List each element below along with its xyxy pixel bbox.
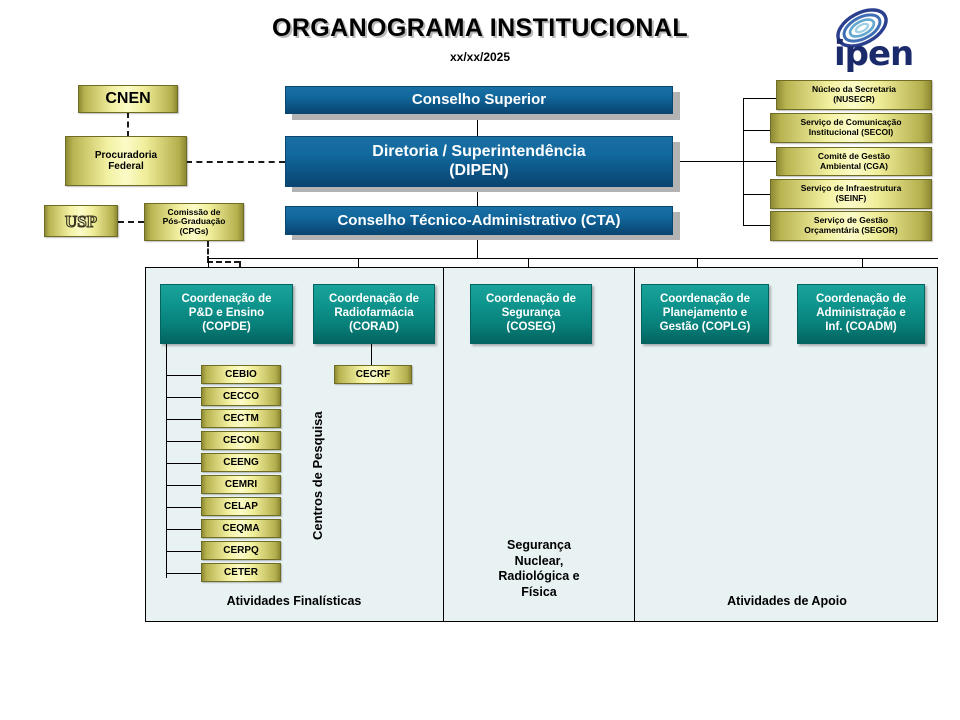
ipen-logo-text: ipen [834, 34, 913, 74]
box-cpgs-label: Comissão de Pós-Graduação (CPGs) [163, 208, 226, 237]
box-cnen[interactable]: CNEN [78, 85, 178, 113]
panel-label-apoio: Atividades de Apoio [638, 594, 936, 610]
box-coseg[interactable]: Coordenação de Segurança (COSEG) [470, 284, 592, 344]
box-celap[interactable]: CELAP [201, 497, 281, 516]
connector-cnen-procuradoria [127, 112, 129, 137]
connector-center-6 [166, 507, 202, 508]
box-ceqma[interactable]: CEQMA [201, 519, 281, 538]
box-procuradoria-federal[interactable]: Procuradoria Federal [65, 136, 187, 186]
connector-procuradoria-dipen [186, 161, 285, 163]
box-cecco-label: CECCO [223, 391, 259, 402]
connector-dipen-right-trunk [678, 161, 743, 162]
connector-center-5 [166, 485, 202, 486]
box-dipen[interactable]: Diretoria / Superintendência (DIPEN) [285, 136, 673, 187]
box-nusecr[interactable]: Núcleo da Secretaria (NUSECR) [776, 80, 932, 110]
box-seinf[interactable]: Serviço de Infraestrutura (SEINF) [770, 179, 932, 209]
box-ceqma-label: CEQMA [222, 523, 259, 534]
box-cemri-label: CEMRI [225, 479, 257, 490]
box-procuradoria-federal-label: Procuradoria Federal [95, 150, 157, 172]
box-celap-label: CELAP [224, 501, 258, 512]
box-secoi-label: Serviço de Comunicação Institucional (SE… [800, 118, 901, 137]
svg-text:USP: USP [65, 212, 97, 231]
box-cerpq[interactable]: CERPQ [201, 541, 281, 560]
connector-center-8 [166, 551, 202, 552]
box-dipen-label: Diretoria / Superintendência (DIPEN) [372, 143, 585, 180]
connector-copde-centers-trunk [166, 344, 167, 578]
box-cerpq-label: CERPQ [223, 545, 259, 556]
box-ceeng[interactable]: CEENG [201, 453, 281, 472]
connector-trunk-cga [743, 161, 776, 162]
box-cemri[interactable]: CEMRI [201, 475, 281, 494]
box-coplg-label: Coordenação de Planejamento e Gestão (CO… [660, 293, 751, 334]
box-cga[interactable]: Comitê de Gestão Ambiental (CGA) [776, 147, 932, 176]
box-conselho-superior[interactable]: Conselho Superior [285, 86, 673, 114]
box-cnen-label: CNEN [105, 90, 150, 108]
box-cecrf[interactable]: CECRF [334, 365, 412, 384]
box-ceter-label: CETER [224, 567, 258, 578]
panel-divider-2 [634, 268, 635, 621]
box-seinf-label: Serviço de Infraestrutura (SEINF) [801, 184, 902, 203]
organogram-canvas: ORGANOGRAMA INSTITUCIONAL xx/xx/2025 ipe… [0, 0, 960, 720]
box-cta-label: Conselho Técnico-Administrativo (CTA) [337, 212, 620, 229]
box-conselho-superior-label: Conselho Superior [412, 91, 546, 108]
connector-center-3 [166, 441, 202, 442]
connector-center-2 [166, 419, 202, 420]
box-cebio[interactable]: CEBIO [201, 365, 281, 384]
box-coseg-label: Coordenação de Segurança (COSEG) [486, 293, 576, 334]
box-coplg[interactable]: Coordenação de Planejamento e Gestão (CO… [641, 284, 769, 344]
panel-label-finalisticas: Atividades Finalísticas [150, 594, 438, 610]
box-cecon-label: CECON [223, 435, 259, 446]
box-copde-label: Coordenação de P&D e Ensino (COPDE) [181, 293, 271, 334]
connector-center-0 [166, 375, 202, 376]
connector-distribution-bus [208, 258, 938, 259]
box-corad-label: Coordenação de Radiofarmácia (CORAD) [329, 293, 419, 334]
box-cta[interactable]: Conselho Técnico-Administrativo (CTA) [285, 206, 673, 235]
connector-center-1 [166, 397, 202, 398]
connector-corad-cecrf [371, 344, 372, 365]
usp-logo-icon: USP [55, 211, 107, 231]
box-usp[interactable]: USP [44, 205, 118, 237]
connector-cpgs-elbow [207, 261, 240, 263]
box-cecrf-label: CECRF [356, 369, 390, 380]
box-cga-label: Comitê de Gestão Ambiental (CGA) [818, 152, 890, 171]
box-cecon[interactable]: CECON [201, 431, 281, 450]
connector-usp-cpgs [118, 221, 144, 223]
box-coadm-label: Coordenação de Administração e Inf. (COA… [816, 293, 906, 334]
box-coadm[interactable]: Coordenação de Administração e Inf. (COA… [797, 284, 925, 344]
box-nusecr-label: Núcleo da Secretaria (NUSECR) [812, 85, 896, 104]
box-cebio-label: CEBIO [225, 369, 257, 380]
connector-center-4 [166, 463, 202, 464]
ipen-logo: ipen [800, 6, 950, 72]
box-cectm-label: CECTM [223, 413, 259, 424]
box-cectm[interactable]: CECTM [201, 409, 281, 428]
box-corad[interactable]: Coordenação de Radiofarmácia (CORAD) [313, 284, 435, 344]
box-ceeng-label: CEENG [223, 457, 259, 468]
panel-divider-1 [443, 268, 444, 621]
box-secoi[interactable]: Serviço de Comunicação Institucional (SE… [770, 113, 932, 143]
box-copde[interactable]: Coordenação de P&D e Ensino (COPDE) [160, 284, 293, 344]
box-ceter[interactable]: CETER [201, 563, 281, 582]
connector-center-9 [166, 573, 202, 574]
box-segor[interactable]: Serviço de Gestão Orçamentária (SEGOR) [770, 211, 932, 241]
box-segor-label: Serviço de Gestão Orçamentária (SEGOR) [804, 216, 898, 235]
panel-label-seguranca: Segurança Nuclear, Radiológica e Física [446, 538, 632, 601]
connector-center-7 [166, 529, 202, 530]
box-cecco[interactable]: CECCO [201, 387, 281, 406]
box-cpgs[interactable]: Comissão de Pós-Graduação (CPGs) [144, 203, 244, 241]
connector-trunk-nusecr [743, 98, 776, 99]
